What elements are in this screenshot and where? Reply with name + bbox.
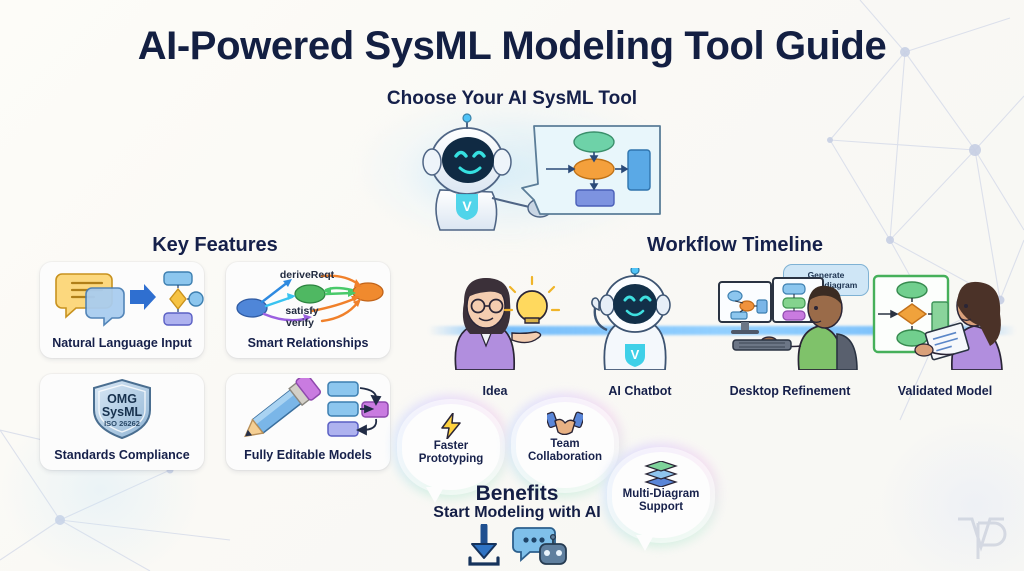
benefit-label-line1: Team <box>550 438 579 450</box>
feature-label: Natural Language Input <box>40 336 204 350</box>
pencil-edit-blocks-icon <box>226 378 390 440</box>
svg-text:V: V <box>631 347 640 362</box>
timeline-step-validated-model[interactable]: Validated Model <box>870 268 1020 398</box>
relationship-graph-icon: deriveReqt satisfy verify <box>226 266 390 328</box>
badge-line-iso: ISO 26262 <box>104 419 140 428</box>
workflow-timeline: Idea V Generate <box>420 268 1020 398</box>
timeline-step-label: Desktop Refinement <box>709 384 871 398</box>
benefits-cta-text: Start Modeling with AI <box>362 504 672 522</box>
shield-badge-icon: OMG SysML ISO 26262 <box>40 378 204 440</box>
person-at-dual-monitors-icon <box>715 268 865 370</box>
bubble-tail <box>636 535 654 551</box>
lightning-bolt-icon <box>402 413 500 439</box>
chat-bot-icon <box>513 528 566 564</box>
person-reviewing-model-icon <box>870 268 1020 370</box>
edge-label-derivereqt: deriveReqt <box>280 269 335 281</box>
cta-icon-row[interactable] <box>462 524 572 566</box>
feature-label: Standards Compliance <box>40 448 204 462</box>
edge-label-satisfy: satisfy <box>285 305 318 317</box>
timeline-step-idea[interactable]: Idea <box>420 268 570 398</box>
badge-line-omg: OMG <box>107 392 137 406</box>
benefit-label-line2: Prototyping <box>419 453 484 465</box>
timeline-step-label: Validated Model <box>864 384 1024 398</box>
benefit-label-line1: Faster <box>434 440 469 452</box>
feature-label: Smart Relationships <box>226 336 390 350</box>
poster-canvas: AI-Powered SysML Modeling Tool Guide Cho… <box>0 0 1024 571</box>
badge-line-sysml: SysML <box>102 405 143 419</box>
chat-bubbles-to-diagram-icon <box>40 266 204 328</box>
page-title: AI-Powered SysML Modeling Tool Guide <box>0 24 1024 69</box>
feature-card-natural-language-input[interactable]: Natural Language Input <box>40 262 204 358</box>
robot-pointing-icon: V <box>565 268 715 370</box>
download-arrow-icon <box>470 526 498 564</box>
benefit-faster-prototyping[interactable]: Faster Prototyping <box>402 404 500 490</box>
handshake-icon <box>516 411 614 437</box>
page-subtitle: Choose Your AI SysML Tool <box>0 88 1024 110</box>
workflow-timeline-heading: Workflow Timeline <box>520 234 950 257</box>
benefit-label-line2: Collaboration <box>528 451 602 463</box>
person-with-lightbulb-icon <box>420 268 570 370</box>
benefit-label: Faster Prototyping <box>404 440 498 467</box>
feature-card-fully-editable-models[interactable]: Fully Editable Models <box>226 374 390 470</box>
vp-logo-watermark <box>954 513 1012 563</box>
timeline-step-desktop-refinement[interactable]: Desktop Refinement <box>715 268 865 398</box>
benefits-title: Benefits <box>392 482 642 506</box>
key-features-grid: Natural Language Input <box>40 262 390 470</box>
benefit-label: Team Collaboration <box>518 438 612 465</box>
feature-card-smart-relationships[interactable]: deriveReqt satisfy verify Smart Relation… <box>226 262 390 358</box>
feature-card-standards-compliance[interactable]: OMG SysML ISO 26262 Standards Compliance <box>40 374 204 470</box>
key-features-heading: Key Features <box>60 234 370 257</box>
edge-label-verify: verify <box>286 317 314 328</box>
ai-robot-mascot-icon: V <box>388 112 674 234</box>
feature-label: Fully Editable Models <box>226 448 390 462</box>
svg-text:V: V <box>462 198 472 214</box>
benefit-team-collaboration[interactable]: Team Collaboration <box>516 402 614 488</box>
timeline-step-ai-chatbot[interactable]: V Generate SysML diagram AI Chatbot <box>565 268 715 398</box>
